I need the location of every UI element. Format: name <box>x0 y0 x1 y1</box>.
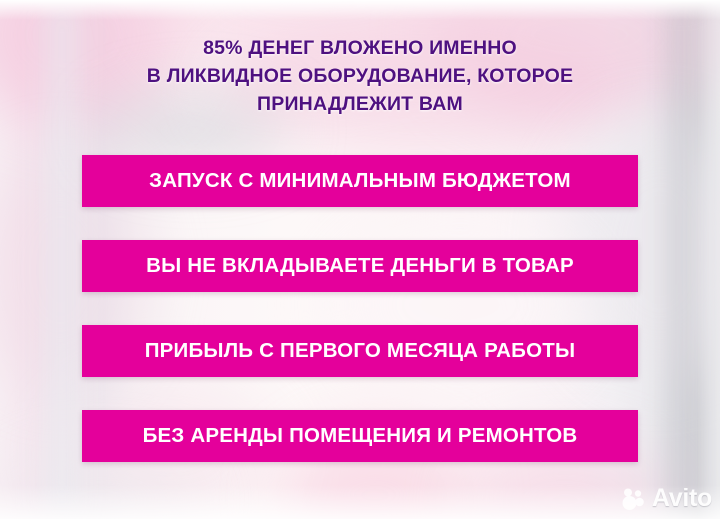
background-blob <box>0 455 200 519</box>
benefit-bar: ПРИБЫЛЬ С ПЕРВОГО МЕСЯЦА РАБОТЫ <box>82 325 638 377</box>
benefit-bar-label: ЗАПУСК С МИНИМАЛЬНЫМ БЮДЖЕТОМ <box>82 171 638 192</box>
avito-watermark: Avito <box>621 486 712 511</box>
benefit-bar: БЕЗ АРЕНДЫ ПОМЕЩЕНИЯ И РЕМОНТОВ <box>82 410 638 462</box>
headline: 85% ДЕНЕГ ВЛОЖЕНО ИМЕННО В ЛИКВИДНОЕ ОБО… <box>0 34 720 118</box>
avito-wordmark: Avito <box>652 486 712 511</box>
background-top-fade <box>0 0 720 20</box>
benefit-bar: ВЫ НЕ ВКЛАДЫВАЕТЕ ДЕНЬГИ В ТОВАР <box>82 240 638 292</box>
benefit-bar: ЗАПУСК С МИНИМАЛЬНЫМ БЮДЖЕТОМ <box>82 155 638 207</box>
avito-circles-icon <box>621 487 647 511</box>
benefit-bar-label: ПРИБЫЛЬ С ПЕРВОГО МЕСЯЦА РАБОТЫ <box>82 341 638 362</box>
headline-line-3: ПРИНАДЛЕЖИТ ВАМ <box>0 90 720 118</box>
benefit-bar-list: ЗАПУСК С МИНИМАЛЬНЫМ БЮДЖЕТОМ ВЫ НЕ ВКЛА… <box>82 155 638 462</box>
poster-image: 85% ДЕНЕГ ВЛОЖЕНО ИМЕННО В ЛИКВИДНОЕ ОБО… <box>0 0 720 519</box>
benefit-bar-label: ВЫ НЕ ВКЛАДЫВАЕТЕ ДЕНЬГИ В ТОВАР <box>82 256 638 277</box>
benefit-bar-label: БЕЗ АРЕНДЫ ПОМЕЩЕНИЯ И РЕМОНТОВ <box>82 426 638 447</box>
headline-line-2: В ЛИКВИДНОЕ ОБОРУДОВАНИЕ, КОТОРОЕ <box>0 62 720 90</box>
headline-line-1: 85% ДЕНЕГ ВЛОЖЕНО ИМЕННО <box>0 34 720 62</box>
background-bottom-fade <box>0 485 720 519</box>
